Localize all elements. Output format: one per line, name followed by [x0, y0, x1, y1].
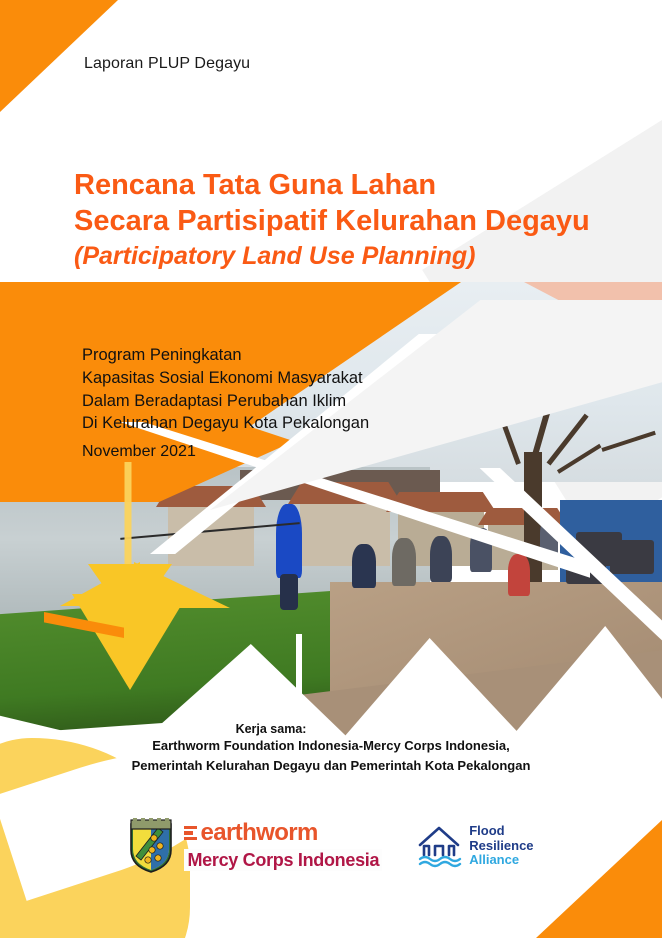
- photo-motorbike: [610, 540, 654, 574]
- flood-resilience-alliance-logo: Flood Resilience Alliance: [416, 823, 533, 869]
- logo-row: earthworm Mercy Corps Indonesia Flood Re…: [0, 818, 662, 874]
- document-cover: Laporan PLUP Degayu Rencana Tata Guna La…: [0, 0, 662, 938]
- photo-person-seated: [392, 538, 416, 586]
- credits-block: Kerja sama: Earthworm Foundation Indones…: [0, 722, 662, 775]
- photo-person-seated: [430, 536, 452, 582]
- earthworm-mercycorps-logo-group: earthworm Mercy Corps Indonesia: [128, 818, 382, 874]
- earthworm-e-icon: [184, 826, 197, 841]
- earthworm-wordmark: earthworm: [184, 821, 382, 845]
- program-line-1: Program Peningkatan: [82, 344, 502, 367]
- house-wave-icon: [416, 823, 462, 869]
- earthworm-label: earthworm: [200, 821, 317, 845]
- earthworm-mercycorps-wordmarks: earthworm Mercy Corps Indonesia: [184, 821, 382, 871]
- program-line-4: Di Kelurahan Degayu Kota Pekalongan: [82, 412, 502, 435]
- mercy-corps-label: Mercy Corps Indonesia: [184, 849, 382, 871]
- fra-line-3: Alliance: [469, 853, 533, 868]
- credits-heading: Kerja sama:: [0, 722, 542, 736]
- credits-line-1: Earthworm Foundation Indonesia-Mercy Cor…: [0, 736, 662, 756]
- page-title-line-2: Secara Partisipatif Kelurahan Degayu: [74, 204, 654, 240]
- fra-line-1: Flood: [469, 824, 533, 839]
- pekalongan-city-crest-icon: [128, 818, 174, 874]
- credits-line-2: Pemerintah Kelurahan Degayu dan Pemerint…: [0, 756, 662, 776]
- program-line-2: Kapasitas Sosial Ekonomi Masyarakat: [82, 367, 502, 390]
- flood-resilience-alliance-wordmark: Flood Resilience Alliance: [469, 824, 533, 868]
- photo-person-fishing: [276, 504, 302, 578]
- title-block: Rencana Tata Guna Lahan Secara Partisipa…: [74, 168, 654, 273]
- publication-date: November 2021: [82, 443, 502, 461]
- photo-person-seated: [352, 544, 376, 588]
- page-subtitle: (Participatory Land Use Planning): [74, 241, 654, 272]
- program-line-3: Dalam Beradaptasi Perubahan Iklim: [82, 390, 502, 413]
- photo-house: [300, 500, 390, 566]
- page-title-line-1: Rencana Tata Guna Lahan: [74, 168, 654, 204]
- program-block: Program Peningkatan Kapasitas Sosial Eko…: [82, 344, 502, 461]
- photo-person-seated: [508, 554, 530, 596]
- report-kicker: Laporan PLUP Degayu: [84, 55, 250, 73]
- fra-line-2: Resilience: [469, 839, 533, 854]
- photo-person-legs: [280, 574, 298, 610]
